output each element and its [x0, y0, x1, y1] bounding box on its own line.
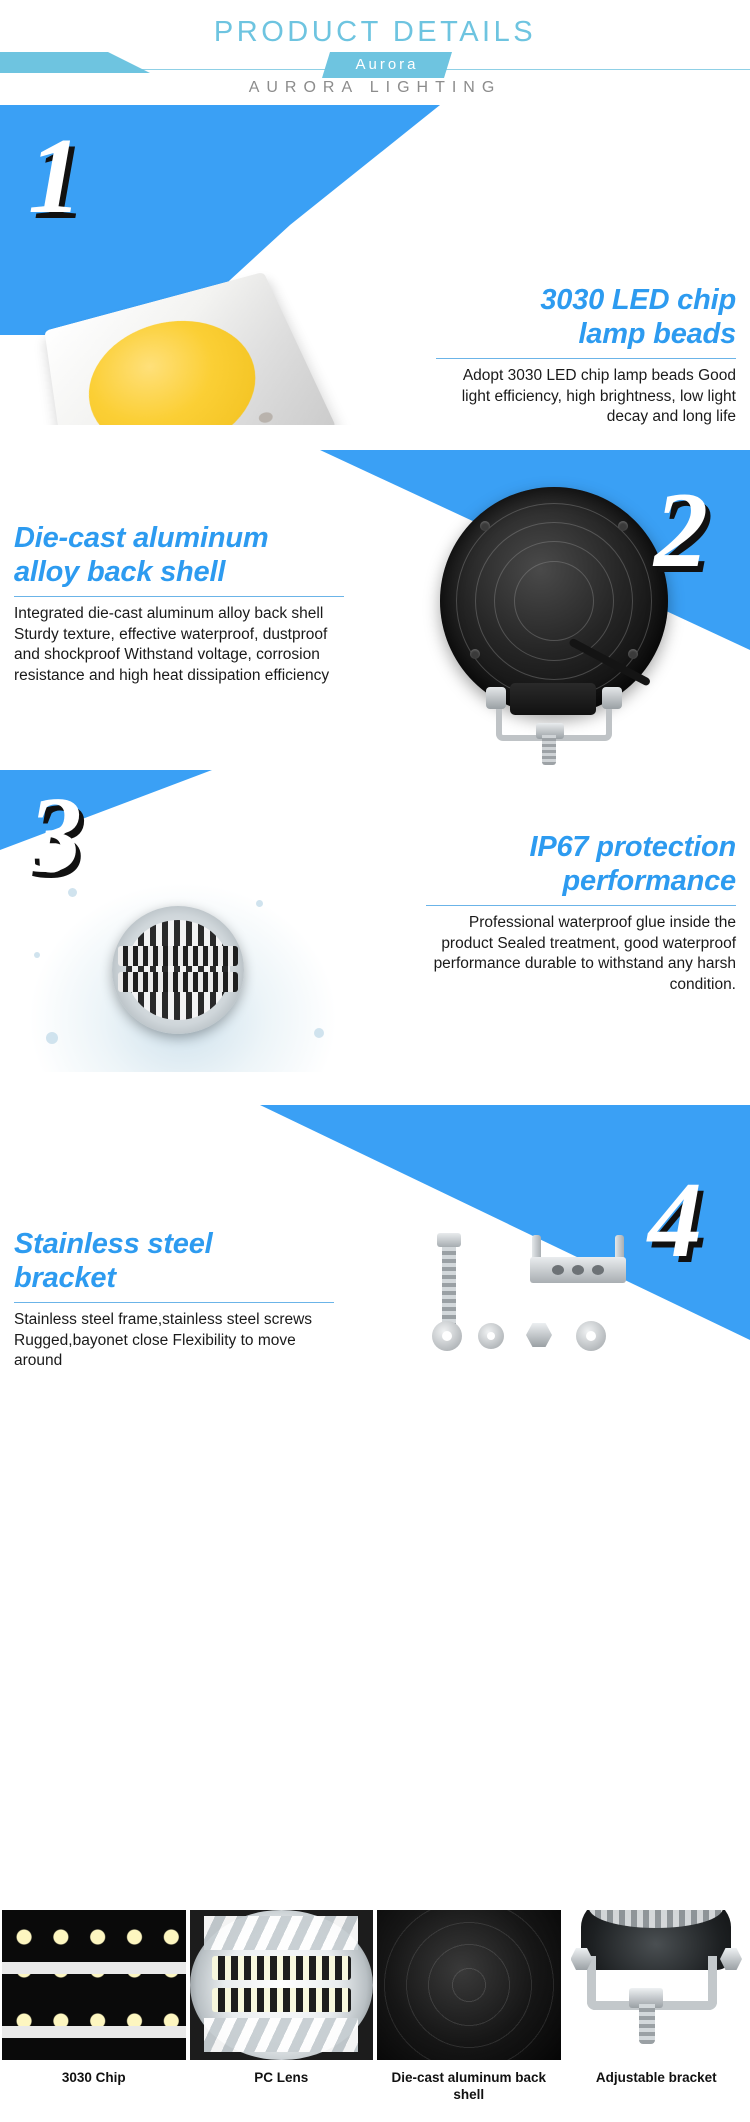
section-3-text: IP67 protection performance Professional… [426, 830, 736, 995]
bracket-bolt [639, 2004, 655, 2044]
section-4-divider [14, 1302, 334, 1303]
u-bracket [530, 1235, 626, 1301]
water-droplet [256, 900, 263, 907]
thumbnail-captions: 3030 Chip PC Lens Die-cast aluminum back… [0, 2062, 750, 2122]
lamp-led-rows [126, 920, 230, 1020]
section-2-title: Die-cast aluminum alloy back shell [14, 521, 344, 589]
section-4-title: Stainless steel bracket [14, 1227, 334, 1295]
section-1-title: 3030 LED chip lamp beads [436, 283, 736, 351]
thumbnail-images [0, 1910, 750, 2060]
section-4-bracket: 4 [0, 1105, 750, 1435]
lamp-led-band-2 [118, 972, 238, 992]
bracket-bolt [542, 735, 556, 765]
thumb-caption-pc-lens: PC Lens [190, 2062, 374, 2122]
thumbnail-strip: 3030 Chip PC Lens Die-cast aluminum back… [0, 1910, 750, 2122]
washer-hole [442, 1331, 452, 1341]
section-1-body: Adopt 3030 LED chip lamp beads Good ligh… [436, 366, 736, 425]
lens-facets-bottom [204, 2018, 358, 2052]
water-droplet [314, 1028, 324, 1038]
section-2-divider [14, 596, 344, 597]
thumb-pc-lens[interactable] [190, 1910, 374, 2060]
lens-led-strip-2 [212, 1988, 351, 2012]
thumb-adjustable-bracket[interactable] [565, 1910, 749, 2060]
section-2-back-shell: 2 Die-c [0, 425, 750, 770]
section-2-body: Integrated die-cast aluminum alloy back … [14, 604, 344, 686]
splash-lamp-face [112, 906, 244, 1034]
header-subtitle: AURORA LIGHTING [0, 79, 750, 97]
thumb-back-shell[interactable] [377, 1910, 561, 2060]
section-4-text: Stainless steel bracket Stainless steel … [14, 1227, 334, 1372]
washer-hole [487, 1332, 495, 1340]
washer-2 [478, 1323, 504, 1349]
section-2-text: Die-cast aluminum alloy back shell Integ… [14, 521, 344, 686]
lens-facets-top [204, 1916, 358, 1950]
section-4-body: Stainless steel frame,stainless steel sc… [14, 1310, 334, 1371]
bracket-hole-1 [552, 1265, 564, 1275]
lens-led-strip-1 [212, 1956, 351, 1980]
chip-divider-bar [2, 1962, 186, 1974]
section-1-divider [436, 358, 736, 359]
chip-divider-bar [2, 2026, 186, 2038]
section-1-step-number: 1 [28, 123, 82, 231]
product-details-page: PRODUCT DETAILS Aurora AURORA LIGHTING 1… [0, 0, 750, 2122]
section-3-step-number: 3 [28, 782, 82, 890]
bracket-hole-2 [572, 1265, 584, 1275]
shell-screw-1 [480, 521, 490, 531]
back-shell-disc [440, 487, 668, 715]
back-shell-rings [377, 1910, 561, 2060]
thumb-caption-adjustable-bracket: Adjustable bracket [565, 2062, 749, 2122]
lamp-led-band-1 [118, 946, 238, 966]
bracket-nut-left [486, 687, 506, 709]
mounting-bracket [484, 683, 624, 763]
washer-hole [586, 1331, 596, 1341]
bracket-nut-right [602, 687, 622, 709]
thumb-3030-chip[interactable] [2, 1910, 186, 2060]
header-brand-badge-label: Aurora [322, 52, 452, 78]
section-1-led-chip: 1 3030 LED chip lamp beads Adopt 3030 LE… [0, 105, 750, 425]
water-droplet [34, 952, 40, 958]
shell-screw-3 [470, 649, 480, 659]
section-3-body: Professional waterproof glue inside the … [426, 913, 736, 995]
washer-1 [432, 1321, 462, 1351]
section-1-text: 3030 LED chip lamp beads Adopt 3030 LED … [436, 283, 736, 425]
hex-nut [526, 1323, 552, 1347]
bracket-hole-3 [592, 1265, 604, 1275]
waterproof-splash-photo [28, 882, 338, 1072]
heat-fin-ring-4 [514, 561, 594, 641]
section-2-step-number: 2 [654, 477, 708, 585]
section-3-title-line2: performance [563, 865, 736, 897]
header-left-accent-shape [0, 52, 150, 73]
shell-screw-4 [628, 649, 638, 659]
section-4-step-number: 4 [648, 1167, 702, 1275]
page-header: PRODUCT DETAILS Aurora AURORA LIGHTING [0, 0, 750, 105]
section-3-ip67: 3 IP67 protection performance Profession… [0, 770, 750, 1105]
aluminum-back-shell-photo [440, 487, 668, 715]
section-2-title-line2: alloy back shell [14, 556, 225, 588]
section-4-title-line2: bracket [14, 1262, 116, 1294]
section-3-title-line1: IP67 protection [530, 831, 737, 863]
water-droplet [46, 1032, 58, 1044]
section-4-title-line1: Stainless steel [14, 1228, 213, 1260]
section-1-title-line1: 3030 LED chip [540, 284, 736, 316]
section-3-title: IP67 protection performance [426, 830, 736, 898]
bolt-head [437, 1233, 461, 1247]
section-2-title-line1: Die-cast aluminum [14, 522, 268, 554]
section-1-title-line2: lamp beads [578, 318, 736, 350]
shell-screw-2 [618, 521, 628, 531]
thumb-caption-3030-chip: 3030 Chip [2, 2062, 186, 2122]
thumb-caption-back-shell: Die-cast aluminum back shell [377, 2062, 561, 2122]
washer-3 [576, 1321, 606, 1351]
page-title: PRODUCT DETAILS [0, 16, 750, 49]
section-3-divider [426, 905, 736, 906]
